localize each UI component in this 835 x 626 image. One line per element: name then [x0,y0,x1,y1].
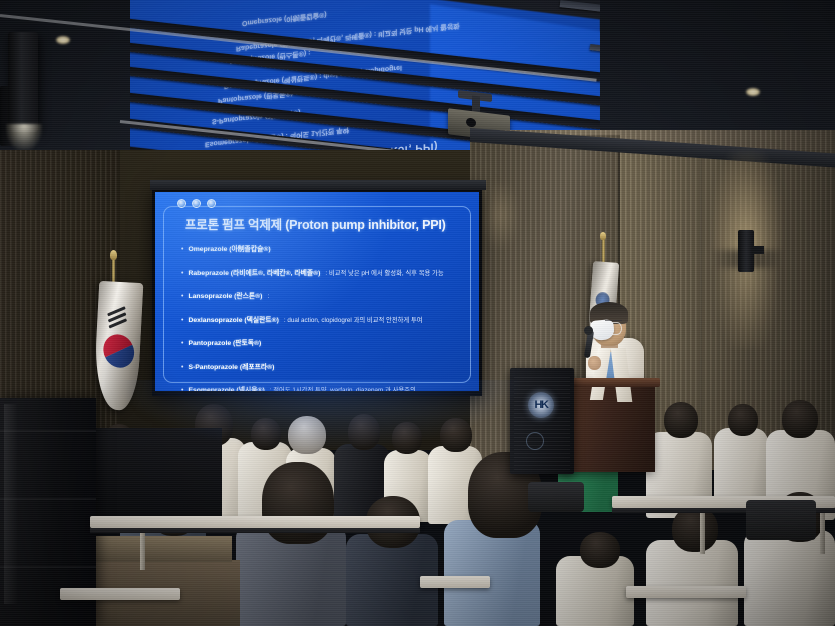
attendee-head [251,418,281,450]
bullet-main-text: Dexlansoprazole (덱실란트®) [188,315,278,326]
attendee-head [728,404,758,436]
slide-bullet-item: • Lansoprazole (란스톤®) : [181,291,465,303]
attendee-head [440,418,472,452]
attendee-head [580,532,620,568]
lectern-logo-ring [526,432,544,450]
lecture-desk [420,576,490,588]
decoration-circle-icon [192,199,201,208]
bullet-main-text: S-Pantoprazole (레포프라®) [188,362,274,373]
lecture-hall-scene: 프로톤 펌프 억제제 (Proton pump inhibitor, PPI) … [0,0,835,626]
eyeglasses-icon [605,320,622,325]
slide-decoration-dots [177,199,216,208]
ceiling-downlight [746,88,760,96]
slide-bullet-item: • Pantoprazole (판토독®) [181,338,465,350]
flag-finial-icon [110,250,117,260]
slide-bullet-item: • Esomeprazole (넥시움®) : 적어도 1시간전 투약, war… [181,385,465,391]
slide-title: 프로톤 펌프 억제제 (Proton pump inhibitor, PPI) [185,214,467,233]
bullet-marker-icon: • [181,338,183,350]
lecture-desk [60,588,180,600]
screen-mount-bar [150,180,486,190]
bullet-sub-text: : 적어도 1시간전 투약, warfarin, diazepam 과 사용주의 [270,385,416,391]
lectern-logo-text: HK [535,399,548,411]
lecture-desk-edge [90,528,420,533]
attendee-head [664,402,698,438]
presentation-slide: 프로톤 펌프 억제제 (Proton pump inhibitor, PPI) … [155,192,479,391]
chair-back [528,482,584,512]
bullet-main-text: Rabeprazole (라비에트®, 라베칸®, 라베졸®) [188,268,320,279]
bullet-sub-text: : dual action, clopidogrel 과의 비교적 안전하게 투… [284,315,423,326]
bullet-marker-icon: • [181,315,183,327]
desk-leg [140,528,145,570]
lecture-desk [90,516,420,528]
bullet-sub-text: : 비교적 낮은 pH 에서 활성화, 식후 복용 가능 [325,268,443,279]
slide-bullet-item: • S-Pantoprazole (레포프라®) [181,362,465,374]
bullet-sub-text: : [267,291,269,302]
pendant-lamp [8,32,38,132]
sconce-downlight-glow [716,268,778,348]
projector-lens-icon [466,117,476,127]
cabinet-highlight [4,404,18,604]
attendee-head [392,422,422,454]
wall-sconce-arm [752,246,764,254]
bullet-main-text: Lansoprazole (란스톤®) [188,291,262,302]
wall-light-soft [478,180,520,250]
attendee-head [782,400,818,438]
bullet-marker-icon: • [181,385,183,391]
attendee-head [348,414,380,450]
presenter-hand [588,356,601,370]
desk-leg [700,508,705,554]
decoration-circle-icon [207,199,216,208]
slide-bullet-item: • Rabeprazole (라비에트®, 라베칸®, 라베졸®) : 비교적 … [181,268,465,280]
wall-baseboard [92,536,232,562]
microphone-head-icon [584,326,593,335]
bullet-marker-icon: • [181,244,183,256]
wall-seam [700,150,702,470]
lectern-logo: HK [528,392,554,418]
bullet-main-text: Omeprazole (아制졸캅슐®) [188,244,270,255]
decoration-circle-icon [177,199,186,208]
bullet-main-text: Pantoprazole (판토독®) [188,338,261,349]
bullet-marker-icon: • [181,291,183,303]
podium [563,382,655,472]
bullet-marker-icon: • [181,268,183,280]
chair-back [746,500,816,540]
pendant-lamp-glow [6,124,42,150]
desk-leg [820,508,825,554]
back-counter [92,428,222,516]
slide-bullet-item: • Dexlansoprazole (덱실란트®) : dual action,… [181,315,465,327]
slide-bullet-list: • Omeprazole (아制졸캅슐®) • Rabeprazole (라비에… [181,244,465,391]
flag-shading [93,281,144,411]
bullet-main-text: Esomeprazole (넥시움®) [188,385,264,391]
south-korea-flag [93,281,144,411]
ceiling-downlight [56,36,70,44]
lectern-grille [514,374,570,470]
attendee-body [646,540,738,626]
attendee-head [288,416,326,454]
slide-bullet-item: • Omeprazole (아制졸캅슐®) [181,244,465,256]
bullet-marker-icon: • [181,362,183,374]
lecture-desk [626,586,746,598]
flag-finial-icon [600,232,606,240]
